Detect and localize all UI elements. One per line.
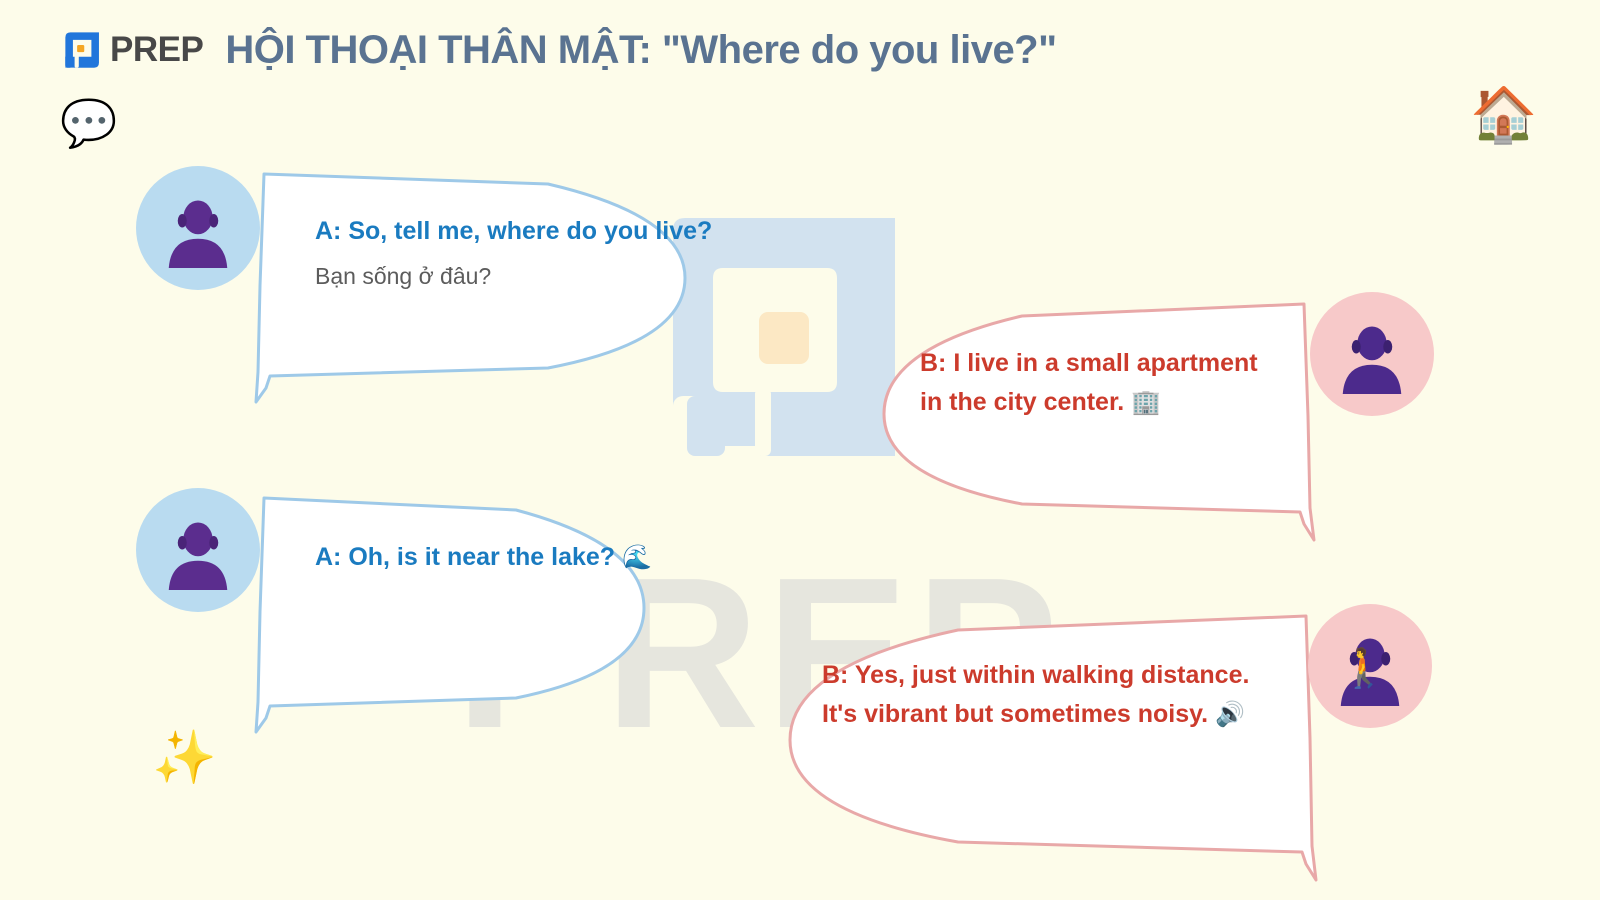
- brand-logo: PREP: [62, 29, 203, 71]
- bubble-line-english: A: So, tell me, where do you live?: [315, 212, 712, 251]
- bubble-line-english-2: It's vibrant but sometimes noisy. 🔊: [822, 695, 1249, 734]
- bubble-line-english-2-text: It's vibrant but sometimes noisy.: [822, 700, 1208, 728]
- bubble-text-b-2: B: Yes, just within walking distance. It…: [822, 656, 1249, 734]
- person-avatar-icon: [162, 518, 234, 590]
- person-avatar-icon: [162, 196, 234, 268]
- avatar-speaker-b-2: [1308, 604, 1432, 728]
- page-header: PREP HỘI THOẠI THÂN MẬT: "Where do you l…: [0, 0, 1600, 100]
- bubble-line-english-2: in the city center. 🏢: [920, 383, 1258, 422]
- bubble-line-english-1: B: Yes, just within walking distance.: [822, 656, 1249, 695]
- avatar-speaker-a-1: [136, 166, 260, 290]
- avatar-speaker-a-2: [136, 488, 260, 612]
- bubble-line-english-text: A: Oh, is it near the lake?: [315, 543, 615, 571]
- bubble-text-b-1: B: I live in a small apartment in the ci…: [920, 344, 1258, 422]
- speaker-loud-icon: 🔊: [1215, 701, 1245, 728]
- water-wave-icon: 🌊: [622, 544, 652, 571]
- bubble-line-english: A: Oh, is it near the lake? 🌊: [315, 538, 652, 577]
- conversation-panel: A: So, tell me, where do you live? Bạn s…: [0, 0, 1600, 900]
- page-title: HỘI THOẠI THÂN MẬT: "Where do you live?": [225, 28, 1056, 73]
- avatar-speaker-b-1: [1310, 292, 1434, 416]
- bubble-text-a-2: A: Oh, is it near the lake? 🌊: [315, 538, 652, 577]
- prep-logo-icon: [62, 29, 104, 71]
- bubble-text-a-1: A: So, tell me, where do you live? Bạn s…: [315, 212, 712, 295]
- person-avatar-icon: [1334, 634, 1406, 706]
- bubble-line-translation: Bạn sống ở đâu?: [315, 258, 712, 295]
- bubble-line-english-2-text: in the city center.: [920, 388, 1124, 416]
- person-avatar-icon: [1336, 322, 1408, 394]
- office-building-icon: 🏢: [1131, 389, 1161, 416]
- bubble-line-english-1: B: I live in a small apartment: [920, 344, 1258, 383]
- brand-wordmark: PREP: [110, 30, 203, 70]
